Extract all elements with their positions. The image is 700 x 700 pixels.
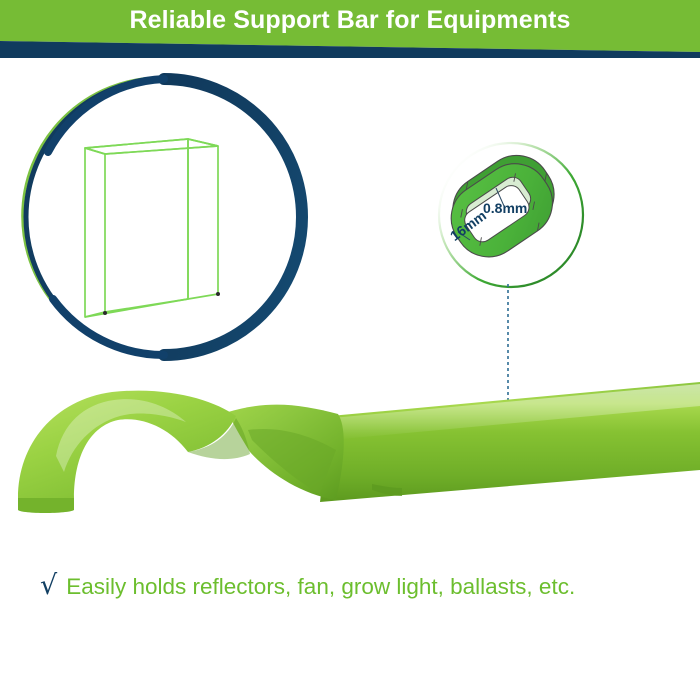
page-title: Reliable Support Bar for Equipments: [0, 0, 700, 42]
circle-navy-ring-taper-bottom: [53, 299, 164, 355]
grow-tent-circle-graphic: [18, 72, 308, 362]
grow-tent-panel: [18, 72, 308, 362]
tube-section-panel: [428, 136, 598, 301]
checkmark-icon: √: [40, 572, 57, 599]
product-infographic: Reliable Support Bar for Equipments: [0, 0, 700, 700]
feature-caption-row: √ Easily holds reflectors, fan, grow lig…: [40, 567, 680, 607]
green-support-bar-photo: [0, 360, 700, 550]
support-bar-hook-lip: [18, 498, 74, 513]
tube-thickness-label: 0.8mm: [483, 200, 527, 216]
header-banner: Reliable Support Bar for Equipments: [0, 0, 700, 60]
tube-section-graphic: [428, 136, 598, 301]
grow-tent-wireframe-icon: [85, 139, 218, 317]
feature-caption-text: Easily holds reflectors, fan, grow light…: [66, 574, 575, 600]
circle-navy-ring-thick: [164, 79, 302, 355]
support-bar-graphic: [0, 360, 700, 550]
